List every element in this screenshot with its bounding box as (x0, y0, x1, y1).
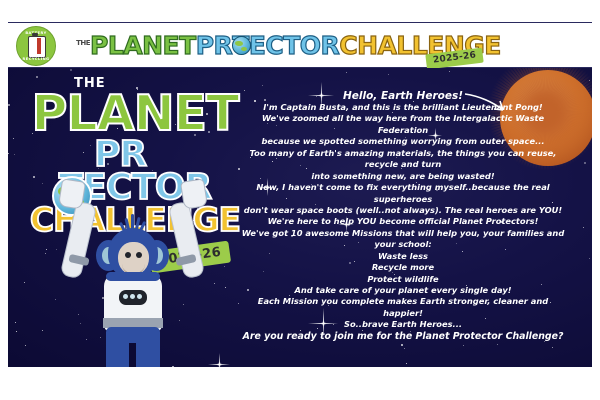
mission-item-1: Waste less (378, 251, 428, 261)
intro-line-3: because we spotted something worrying fr… (261, 136, 544, 146)
poster-title-planet: PLANET (26, 91, 244, 136)
planet-protector-poster: BATTERY RECYCLING THE PLANET PR TECTOR C… (8, 22, 592, 367)
mascot-left-eye (125, 252, 131, 258)
paragraph-intro: I'm Captain Busta, and this is the brill… (238, 102, 568, 148)
poster-header: BATTERY RECYCLING THE PLANET PR TECTOR C… (8, 22, 592, 68)
closing-line-1: Each Mission you complete makes Earth st… (258, 296, 548, 317)
heroes-line-2: don't wear space boots (well..not always… (244, 205, 562, 215)
paragraph-so: So..brave Earth Heroes... (238, 319, 568, 330)
missions-block: We've got 10 awesome Missions that will … (238, 228, 568, 297)
intro-line-2: We've zoomed all the way here from the I… (262, 113, 544, 134)
mission-item-4: And take care of your planet every singl… (294, 285, 511, 295)
paragraph-closing: Each Mission you complete makes Earth st… (238, 296, 568, 319)
space-background: THE PLANET PRTECTOR CHALLENGE 2025-26 (8, 68, 592, 367)
mascot-legs (106, 327, 160, 367)
battery-icon (28, 36, 46, 58)
heroes-line-1: Now, I haven't come to fix everything my… (256, 182, 549, 203)
header-word-planet: PLANET (90, 31, 196, 60)
header-the-label: THE (76, 39, 90, 47)
mascot-right-arm (168, 201, 206, 280)
call-to-action-text: Are you ready to join me for the Planet … (238, 331, 568, 342)
battery-stripe (37, 38, 41, 54)
greeting-text: Hello, Earth Heroes! (238, 90, 568, 102)
mission-item-2: Recycle more (372, 262, 434, 272)
mascot-left-arm (60, 201, 98, 280)
heroes-line-3: We're here to help YOU become official P… (268, 216, 539, 226)
intro-line-1: I'm Captain Busta, and this is the brill… (263, 102, 542, 112)
waste-line-1: Too many of Earth's amazing materials, t… (250, 148, 557, 169)
mascot-chest-patch (119, 290, 147, 305)
badge-label-bottom: RECYCLING (17, 57, 55, 61)
missions-heading: We've got 10 awesome Missions that will … (242, 228, 565, 249)
paragraph-heroes: Now, I haven't come to fix everything my… (238, 182, 568, 228)
mascot-right-eye (136, 252, 142, 258)
mascot-right-hand (180, 178, 208, 209)
closing-line-2: So..brave Earth Heroes... (344, 319, 462, 329)
header-word-protector-a: PR (196, 31, 233, 60)
header-top-rule (8, 22, 592, 23)
poster-body-copy: Hello, Earth Heroes! I'm Captain Busta, … (238, 90, 568, 342)
header-globe-icon (232, 36, 251, 55)
battery-recycling-badge: BATTERY RECYCLING (16, 26, 56, 66)
paragraph-waste: Too many of Earth's amazing materials, t… (238, 148, 568, 182)
mission-item-3: Protect wildlife (367, 274, 438, 284)
monkey-astronaut-icon (48, 198, 218, 367)
mascot-collar (106, 272, 160, 281)
waste-line-2: into something new, are being wasted! (311, 171, 494, 181)
